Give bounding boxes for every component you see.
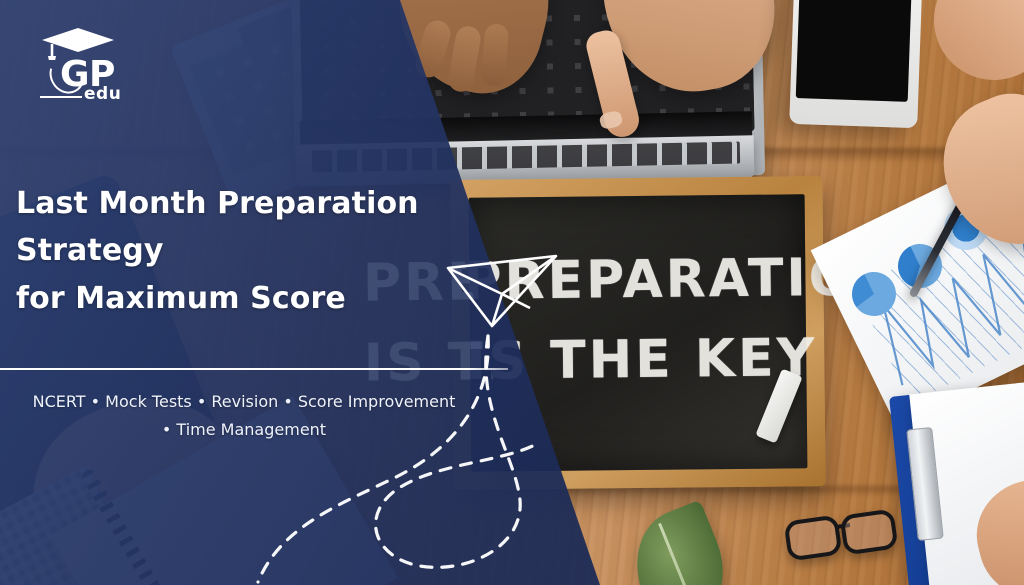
brand-logo[interactable]: GP edu [22,26,132,104]
headline-line-2: Strategy [16,227,486,274]
headline: Last Month Preparation Strategy for Maxi… [16,180,486,322]
headline-line-1: Last Month Preparation [16,180,486,227]
headline-line-3: for Maximum Score [16,275,486,322]
logo-underline [40,96,82,98]
smartphone-screen [796,0,913,102]
promo-banner: PREPARATION IS THE KEY PREP IS TH [0,0,1024,585]
finger-left-3 [481,23,509,87]
subtitle-line-2: • Time Management [0,416,488,444]
subtitle: NCERT • Mock Tests • Revision • Score Im… [0,388,488,445]
headline-divider [0,368,508,370]
logo-subtext: edu [84,84,121,104]
subtitle-line-1: NCERT • Mock Tests • Revision • Score Im… [0,388,488,416]
